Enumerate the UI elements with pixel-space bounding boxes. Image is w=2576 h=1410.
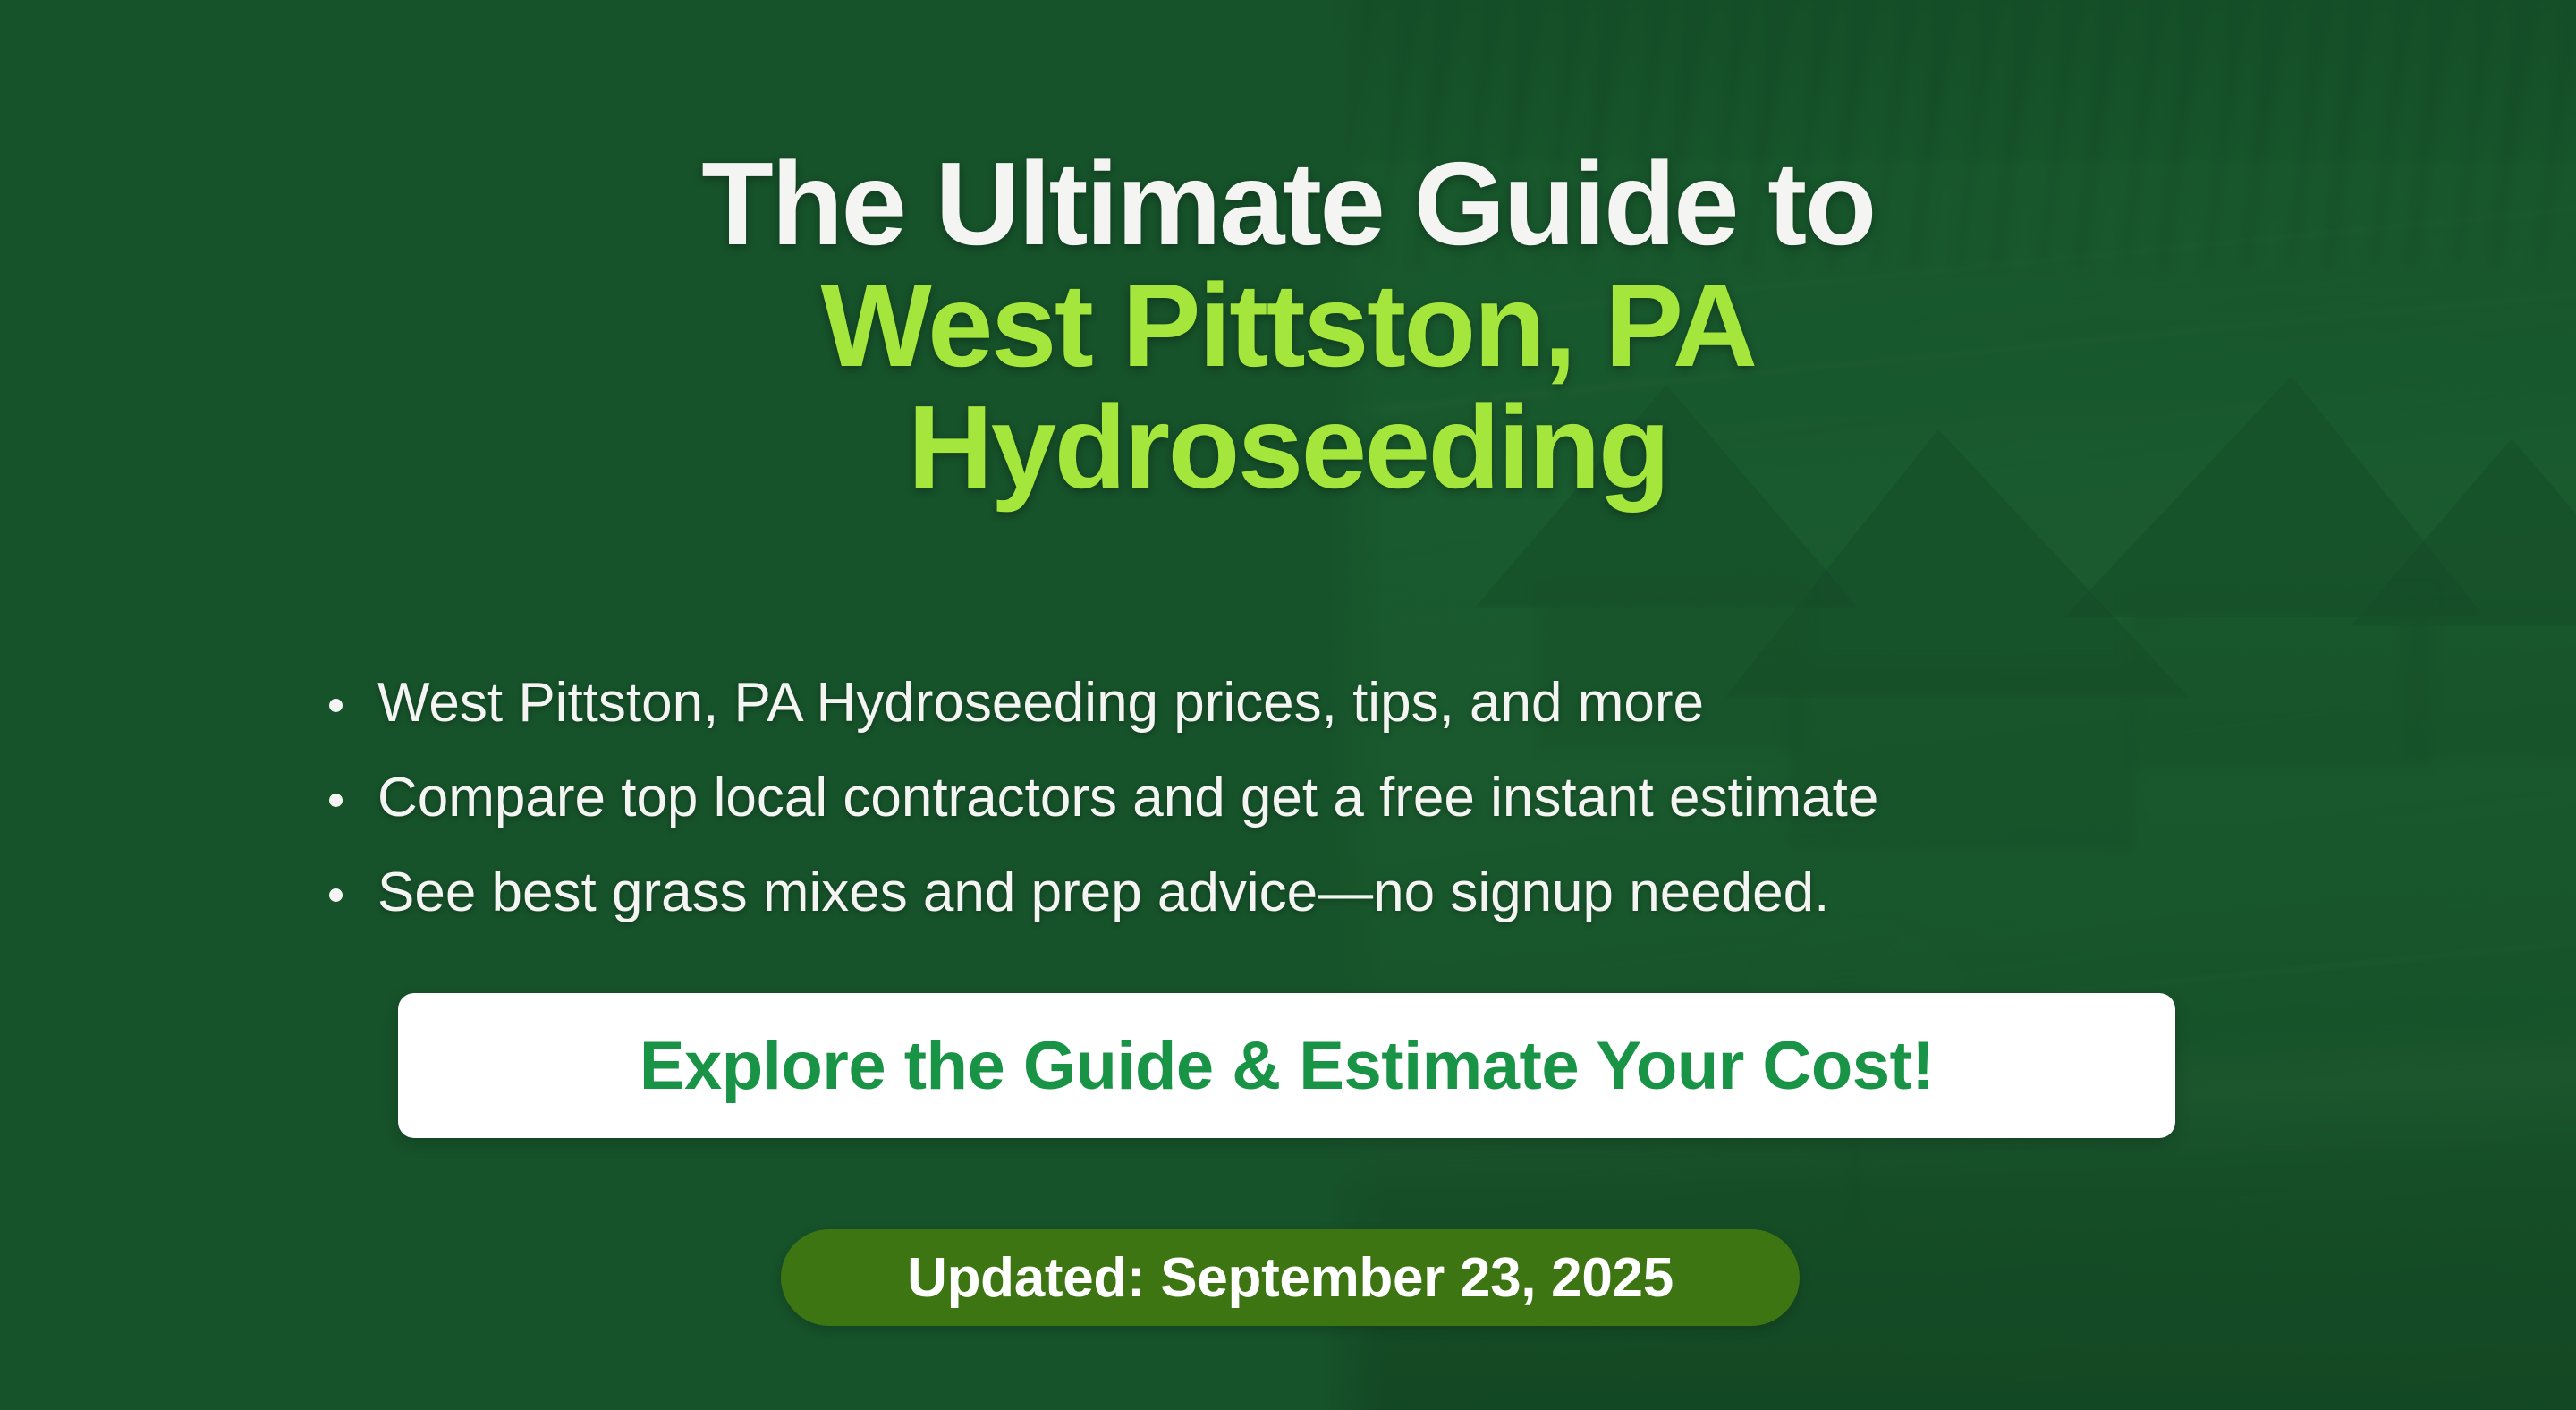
page-title: The Ultimate Guide to West Pittston, PA … <box>0 143 2576 508</box>
benefit-list: West Pittston, PA Hydroseeding prices, t… <box>322 675 2290 960</box>
bullet-dot-icon <box>329 888 343 902</box>
explore-guide-cta-button[interactable]: Explore the Guide & Estimate Your Cost! <box>398 993 2175 1138</box>
headline-line-2: West Pittston, PA <box>0 265 2576 386</box>
hero-banner: The Ultimate Guide to West Pittston, PA … <box>0 0 2576 1410</box>
list-item-label: West Pittston, PA Hydroseeding prices, t… <box>377 672 1704 734</box>
banner-content: The Ultimate Guide to West Pittston, PA … <box>0 0 2576 1410</box>
headline-line-3: Hydroseeding <box>0 386 2576 508</box>
updated-date-badge: Updated: September 23, 2025 <box>781 1229 1800 1326</box>
list-item: Compare top local contractors and get a … <box>322 770 2290 826</box>
list-item: West Pittston, PA Hydroseeding prices, t… <box>322 675 2290 731</box>
bullet-dot-icon <box>329 794 343 807</box>
headline-line-1: The Ultimate Guide to <box>0 143 2576 265</box>
bullet-dot-icon <box>329 699 343 712</box>
list-item-label: See best grass mixes and prep advice—no … <box>377 862 1829 923</box>
list-item-label: Compare top local contractors and get a … <box>377 767 1878 828</box>
list-item: See best grass mixes and prep advice—no … <box>322 865 2290 921</box>
